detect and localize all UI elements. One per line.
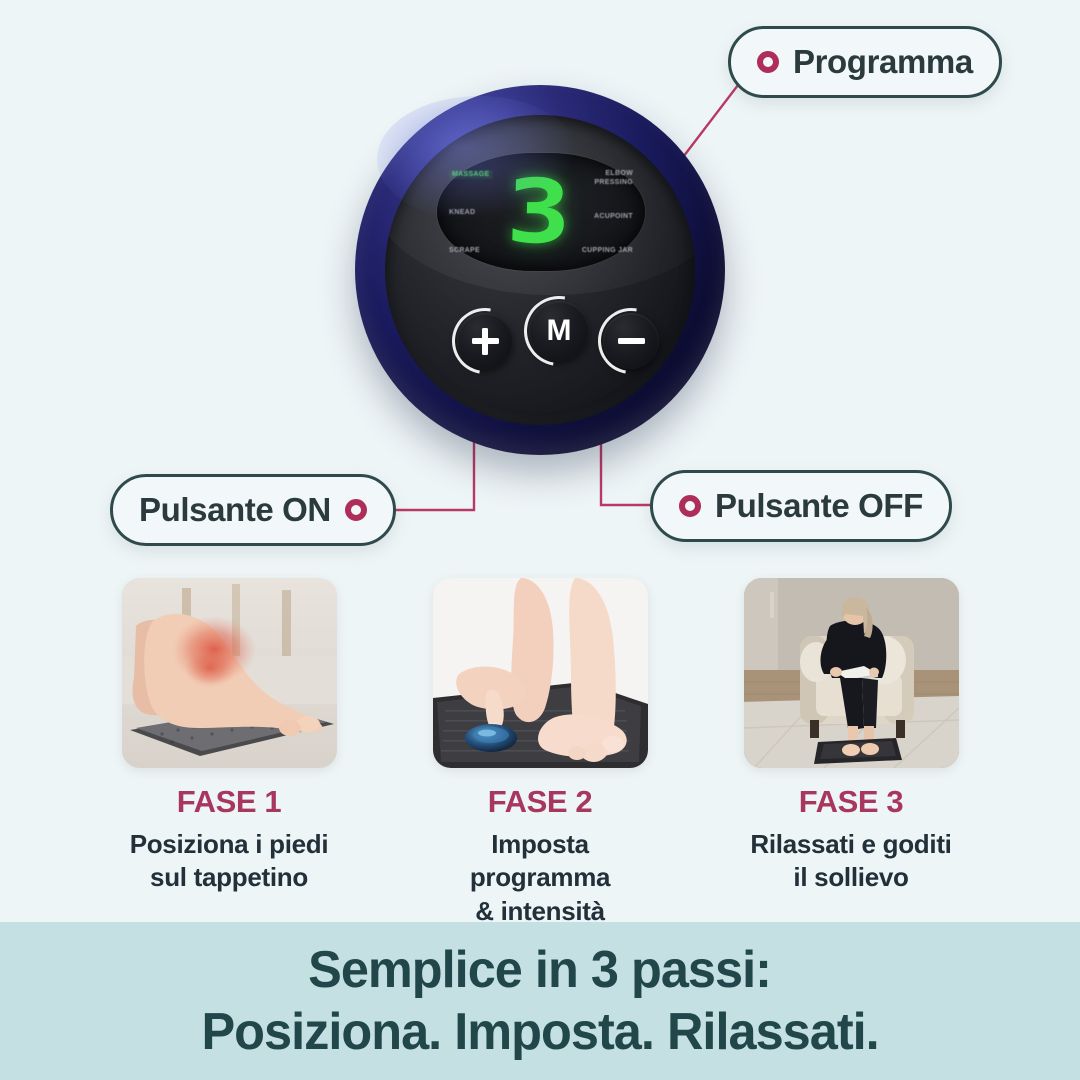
callout-pulsante-off[interactable]: Pulsante OFF: [650, 470, 952, 542]
callout-programma-label: Programma: [793, 43, 973, 81]
minus-icon: [618, 328, 645, 355]
step-3-description: Rilassati e goditi il sollievo: [744, 828, 959, 895]
callout-dot-icon: [345, 499, 367, 521]
woman-reading-in-armchair-illustration: [744, 578, 959, 768]
promo-infographic: MASSAGE KNEAD SCRAPE 3 ELBOW PRESSING AC…: [0, 0, 1080, 1080]
increase-intensity-button[interactable]: [457, 313, 513, 369]
step-card: FASE 1 Posiziona i piedi sul tappetino: [122, 578, 337, 928]
foot-on-mat-with-pain-highlight-illustration: [122, 578, 337, 768]
decrease-intensity-button[interactable]: [603, 313, 659, 369]
step-2-title: FASE 2: [433, 784, 648, 820]
lcd-label-massage: MASSAGE: [449, 170, 493, 179]
hand-pressing-mat-button-illustration: [433, 578, 648, 768]
massager-control-unit: MASSAGE KNEAD SCRAPE 3 ELBOW PRESSING AC…: [355, 85, 725, 455]
callout-pulsante-on-label: Pulsante ON: [139, 491, 331, 529]
step-1-description: Posiziona i piedi sul tappetino: [122, 828, 337, 895]
step-card: FASE 3 Rilassati e goditi il sollievo: [744, 578, 959, 928]
step-1-desc-line1: Posiziona i piedi: [122, 828, 337, 861]
step-3-desc-line2: il sollievo: [744, 861, 959, 894]
device-diagram: MASSAGE KNEAD SCRAPE 3 ELBOW PRESSING AC…: [0, 0, 1080, 570]
banner-line-1: Semplice in 3 passi:: [309, 940, 772, 1000]
lcd-program-number: 3: [505, 176, 569, 248]
mode-button-arc: [510, 282, 607, 379]
step-card: FASE 2 Imposta programma & intensità: [433, 578, 648, 928]
step-2-desc-line1: Imposta programma: [433, 828, 648, 895]
lcd-label-acupoint: ACUPOINT: [594, 213, 633, 220]
step-3-title: FASE 3: [744, 784, 959, 820]
step-3-photo: [744, 578, 959, 768]
step-3-desc-line1: Rilassati e goditi: [744, 828, 959, 861]
step-1-desc-line2: sul tappetino: [122, 861, 337, 894]
callout-dot-icon: [679, 495, 701, 517]
callout-dot-icon: [757, 51, 779, 73]
lcd-label-cupping-jar: CUPPING JAR: [582, 247, 633, 254]
lcd-left-labels: MASSAGE KNEAD SCRAPE: [449, 170, 505, 254]
lcd-label-elbow-pressing: ELBOW PRESSING: [569, 170, 633, 188]
step-2-photo: [433, 578, 648, 768]
step-2-description: Imposta programma & intensità: [433, 828, 648, 928]
lcd-label-scrape: SCRAPE: [449, 247, 480, 254]
callout-programma[interactable]: Programma: [728, 26, 1002, 98]
lcd-right-labels: ELBOW PRESSING ACUPOINT CUPPING JAR: [569, 170, 633, 254]
lcd-label-knead: KNEAD: [449, 209, 475, 216]
bottom-banner: Semplice in 3 passi: Posiziona. Imposta.…: [0, 922, 1080, 1080]
callout-pulsante-off-label: Pulsante OFF: [715, 487, 923, 525]
mode-button[interactable]: M: [529, 301, 589, 361]
step-1-title: FASE 1: [122, 784, 337, 820]
steps-row: FASE 1 Posiziona i piedi sul tappetino: [0, 578, 1080, 928]
plus-icon: [472, 328, 499, 355]
banner-line-2: Posiziona. Imposta. Rilassati.: [201, 1002, 878, 1062]
lcd-display: MASSAGE KNEAD SCRAPE 3 ELBOW PRESSING AC…: [437, 153, 645, 271]
step-1-photo: [122, 578, 337, 768]
device-face: MASSAGE KNEAD SCRAPE 3 ELBOW PRESSING AC…: [385, 115, 695, 425]
callout-pulsante-on[interactable]: Pulsante ON: [110, 474, 396, 546]
